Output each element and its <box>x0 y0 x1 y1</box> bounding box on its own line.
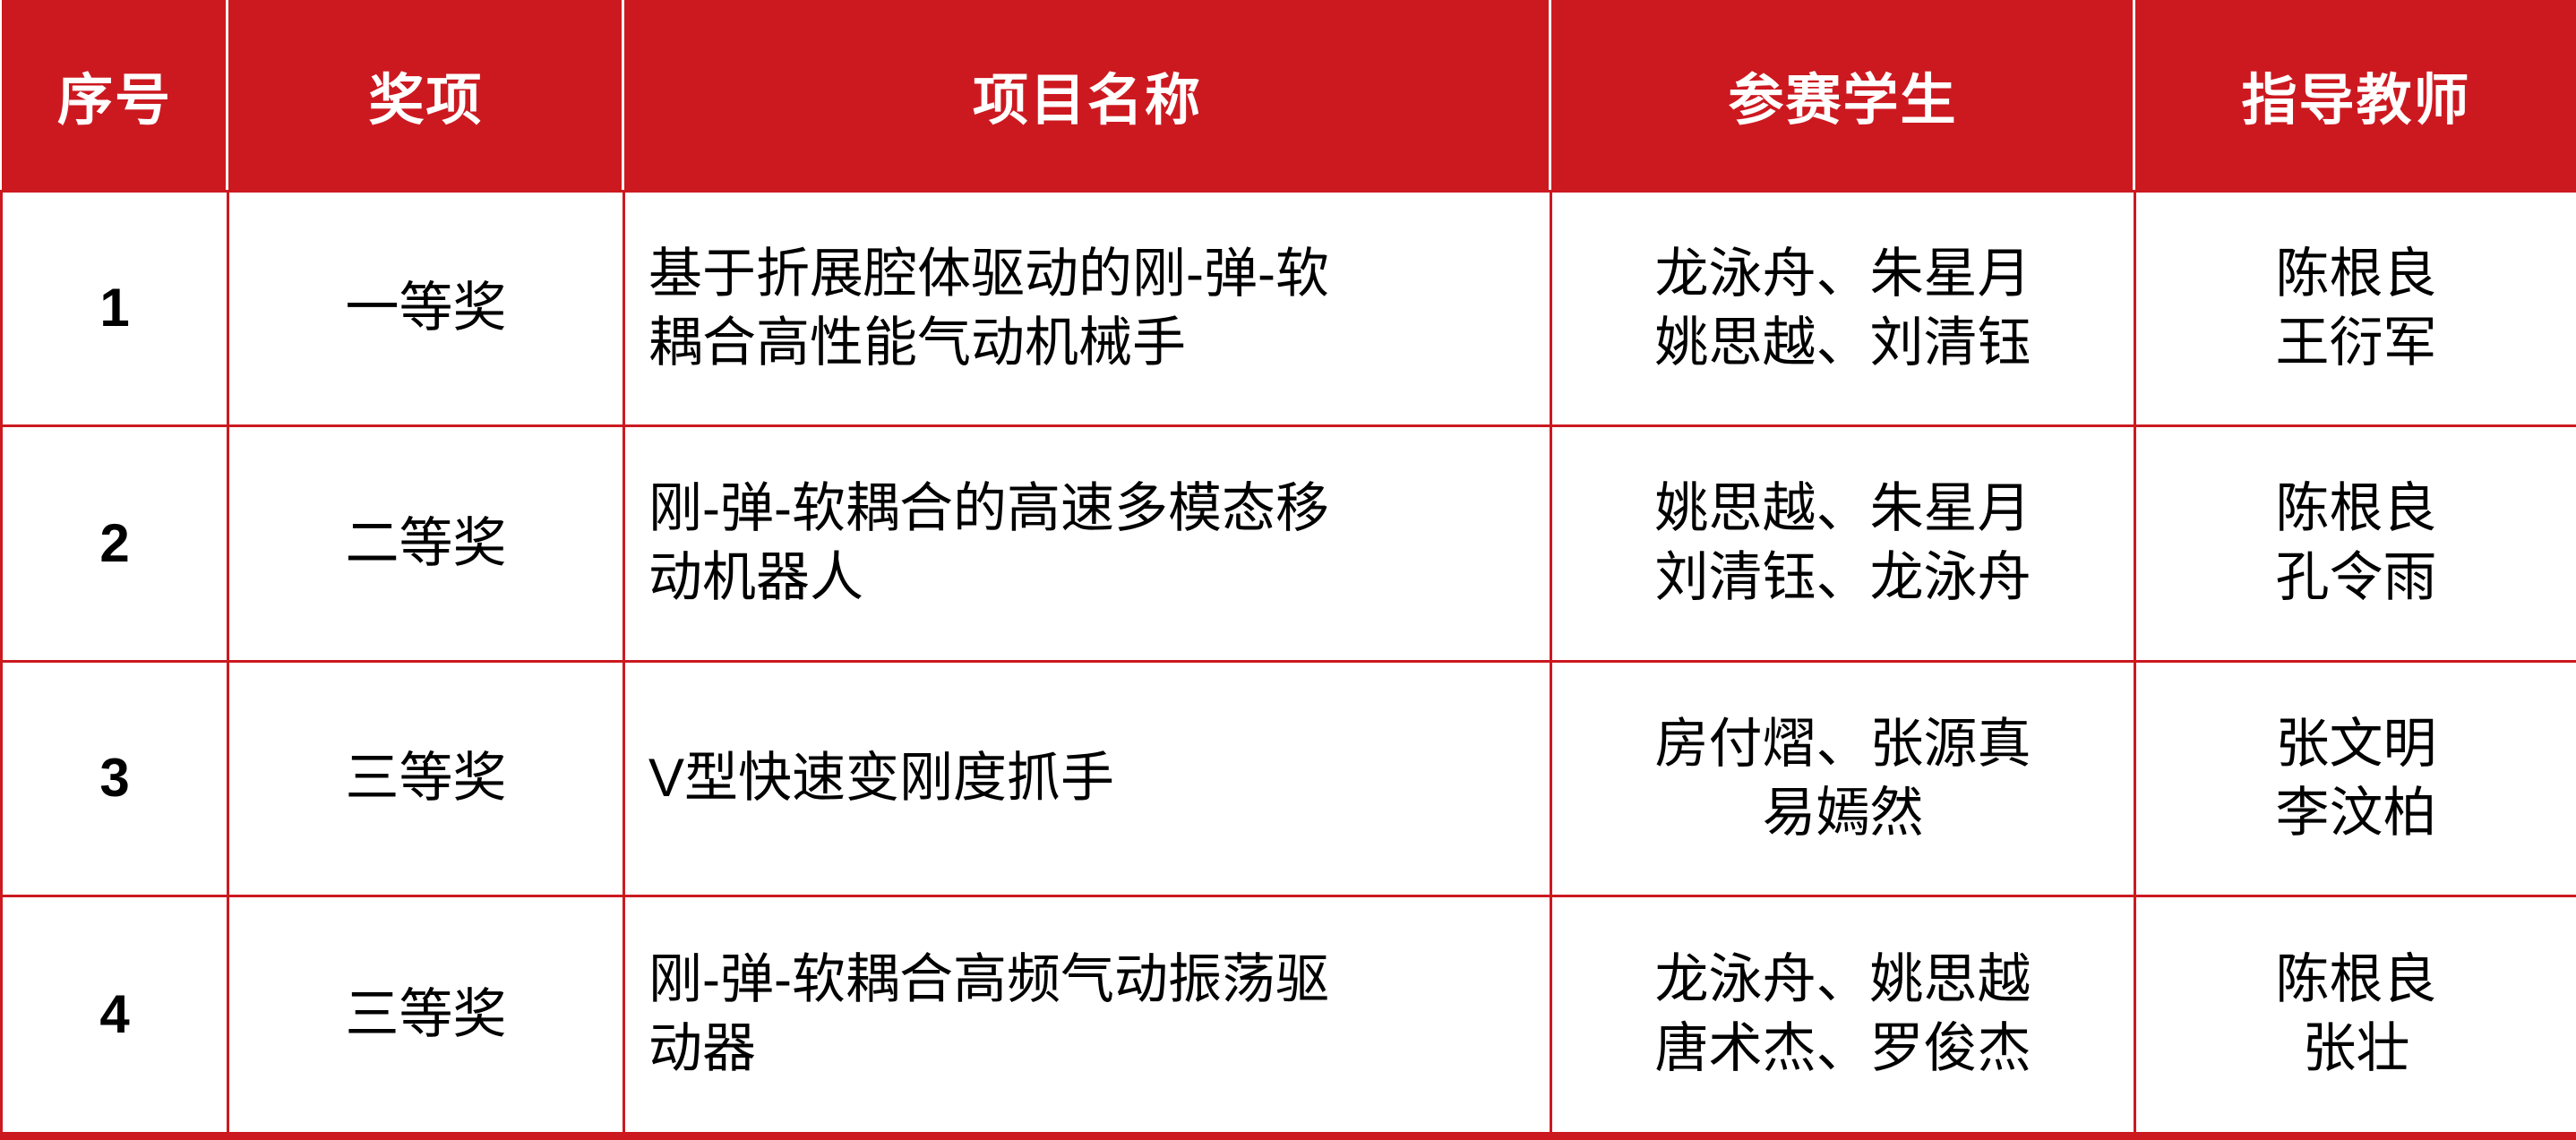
cell-award-level: 三等奖 <box>228 661 624 896</box>
cell-project-name: 刚-弹-软耦合的高速多模态移动机器人 <box>624 426 1551 661</box>
column-header-seq: 序号 <box>2 0 228 192</box>
cell-teachers-line: 李汶柏 <box>2160 779 2553 848</box>
award-results-table: 序号 奖项 项目名称 参赛学生 指导教师 1一等奖基于折展腔体驱动的刚-弹-软耦… <box>0 0 2576 1140</box>
column-header-project: 项目名称 <box>624 0 1551 192</box>
cell-students: 姚思越、朱星月刘清钰、龙泳舟 <box>1551 426 2135 661</box>
cell-project-name-line: 动机器人 <box>648 544 1526 613</box>
cell-project-name: V型快速变刚度抓手 <box>624 661 1551 896</box>
cell-teachers: 张文明李汶柏 <box>2135 661 2576 896</box>
cell-students-line: 龙泳舟、朱星月 <box>1576 240 2110 309</box>
cell-sequence-number: 4 <box>2 896 228 1136</box>
cell-teachers: 陈根良王衍军 <box>2135 192 2576 426</box>
cell-project-name-line: 动器 <box>648 1015 1526 1084</box>
cell-project-name-line: V型快速变刚度抓手 <box>648 744 1526 813</box>
cell-students-line: 易嫣然 <box>1576 779 2110 848</box>
cell-teachers-line: 孔令雨 <box>2160 544 2553 613</box>
cell-teachers-line: 陈根良 <box>2160 475 2553 544</box>
table-row: 3三等奖V型快速变刚度抓手房付熠、张源真易嫣然张文明李汶柏 <box>2 661 2576 896</box>
table-row: 2二等奖刚-弹-软耦合的高速多模态移动机器人姚思越、朱星月刘清钰、龙泳舟陈根良孔… <box>2 426 2576 661</box>
cell-students-line: 姚思越、刘清钰 <box>1576 309 2110 378</box>
cell-project-name: 基于折展腔体驱动的刚-弹-软耦合高性能气动机械手 <box>624 192 1551 426</box>
cell-project-name-line: 基于折展腔体驱动的刚-弹-软 <box>648 240 1526 309</box>
column-header-teachers: 指导教师 <box>2135 0 2576 192</box>
cell-award-level: 一等奖 <box>228 192 624 426</box>
cell-project-name: 刚-弹-软耦合高频气动振荡驱动器 <box>624 896 1551 1136</box>
cell-students: 龙泳舟、朱星月姚思越、刘清钰 <box>1551 192 2135 426</box>
column-header-award: 奖项 <box>228 0 624 192</box>
cell-teachers-line: 陈根良 <box>2160 946 2553 1015</box>
cell-sequence-number: 2 <box>2 426 228 661</box>
cell-students-line: 唐术杰、罗俊杰 <box>1576 1015 2110 1084</box>
cell-teachers-line: 张壮 <box>2160 1015 2553 1084</box>
cell-award-level: 二等奖 <box>228 426 624 661</box>
cell-students: 房付熠、张源真易嫣然 <box>1551 661 2135 896</box>
cell-students-line: 刘清钰、龙泳舟 <box>1576 544 2110 613</box>
cell-students-line: 龙泳舟、姚思越 <box>1576 946 2110 1015</box>
cell-project-name-line: 刚-弹-软耦合高频气动振荡驱 <box>648 946 1526 1015</box>
cell-students: 龙泳舟、姚思越唐术杰、罗俊杰 <box>1551 896 2135 1136</box>
cell-teachers-line: 王衍军 <box>2160 309 2553 378</box>
cell-teachers: 陈根良孔令雨 <box>2135 426 2576 661</box>
table-body: 1一等奖基于折展腔体驱动的刚-弹-软耦合高性能气动机械手龙泳舟、朱星月姚思越、刘… <box>2 192 2576 1136</box>
cell-students-line: 姚思越、朱星月 <box>1576 475 2110 544</box>
cell-students-line: 房付熠、张源真 <box>1576 710 2110 779</box>
table-row: 4三等奖刚-弹-软耦合高频气动振荡驱动器龙泳舟、姚思越唐术杰、罗俊杰陈根良张壮 <box>2 896 2576 1136</box>
cell-teachers-line: 陈根良 <box>2160 240 2553 309</box>
cell-project-name-line: 耦合高性能气动机械手 <box>648 309 1526 378</box>
table-header: 序号 奖项 项目名称 参赛学生 指导教师 <box>2 0 2576 192</box>
cell-teachers-line: 张文明 <box>2160 710 2553 779</box>
table-row: 1一等奖基于折展腔体驱动的刚-弹-软耦合高性能气动机械手龙泳舟、朱星月姚思越、刘… <box>2 192 2576 426</box>
column-header-students: 参赛学生 <box>1551 0 2135 192</box>
cell-teachers: 陈根良张壮 <box>2135 896 2576 1136</box>
header-row: 序号 奖项 项目名称 参赛学生 指导教师 <box>2 0 2576 192</box>
cell-award-level: 三等奖 <box>228 896 624 1136</box>
cell-sequence-number: 1 <box>2 192 228 426</box>
cell-project-name-line: 刚-弹-软耦合的高速多模态移 <box>648 475 1526 544</box>
cell-sequence-number: 3 <box>2 661 228 896</box>
